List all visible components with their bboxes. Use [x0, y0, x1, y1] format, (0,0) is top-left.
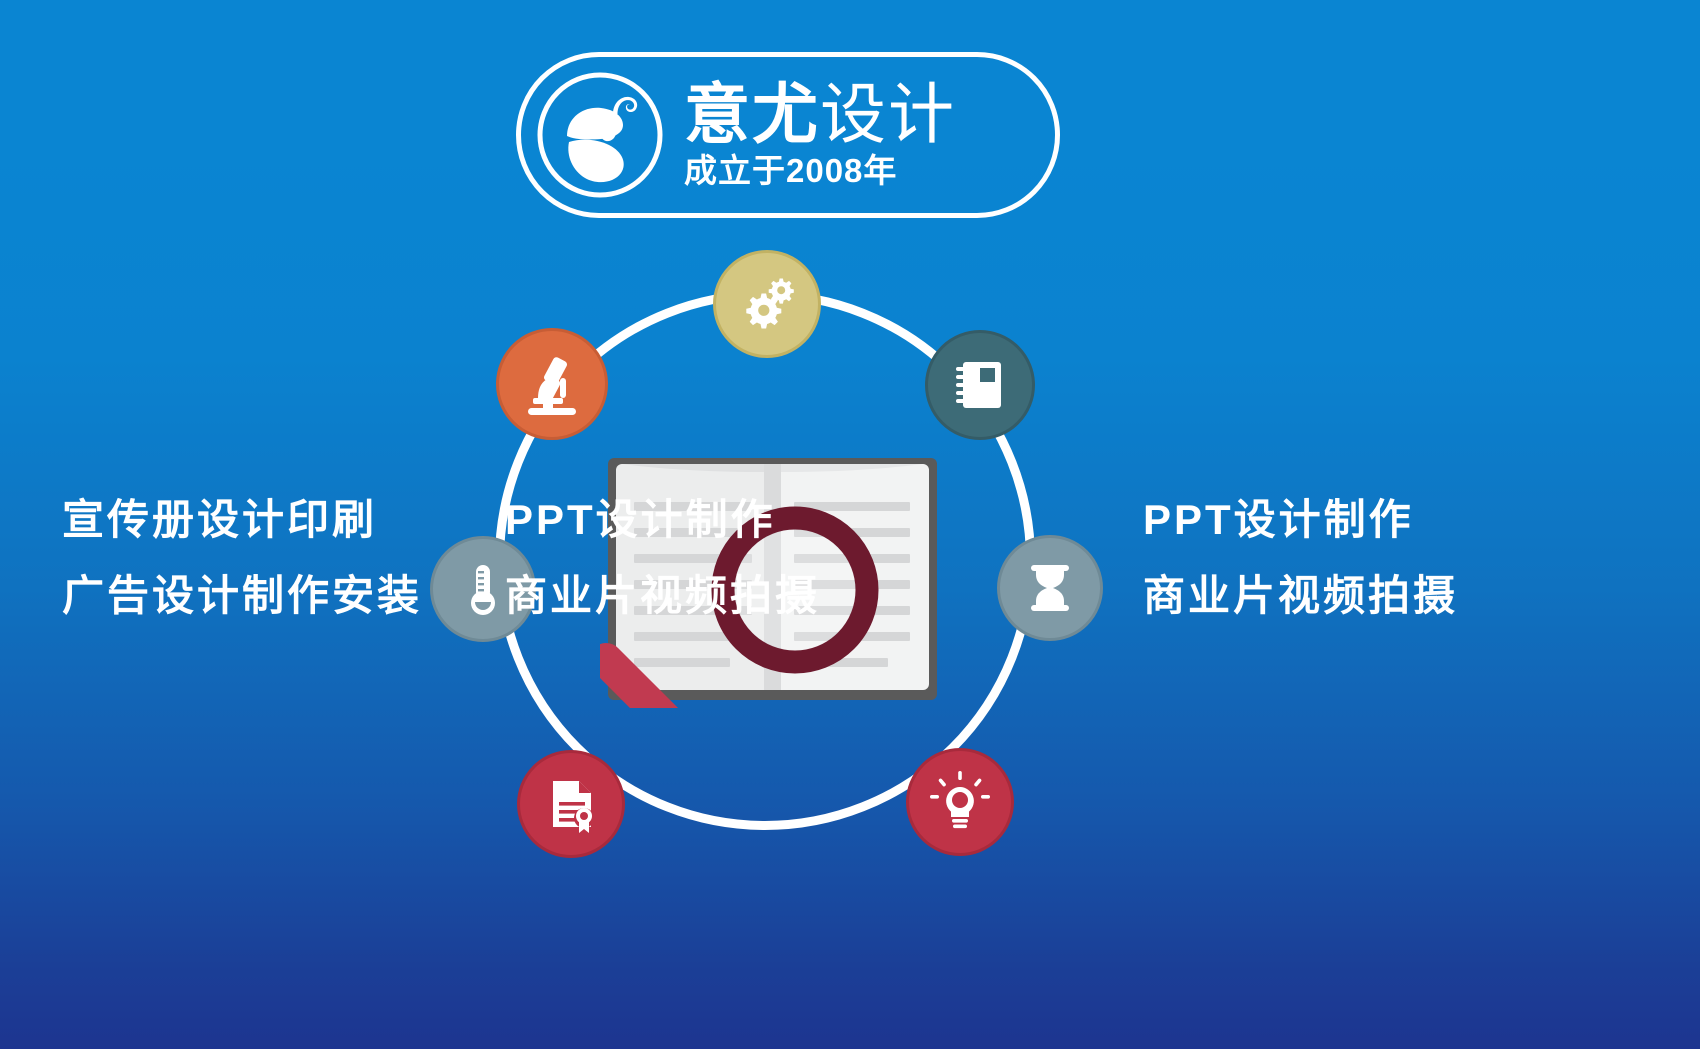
- service-text-center-line2: 商业片视频拍摄: [505, 558, 820, 634]
- logo-tagline: 成立于2008年: [684, 152, 1044, 190]
- service-text-center: PPT设计制作 商业片视频拍摄: [505, 482, 820, 634]
- node-notebook-icon[interactable]: [925, 330, 1035, 440]
- gears-icon: [732, 269, 802, 339]
- logo-name-thin: 设计: [820, 77, 956, 151]
- logo-name-line: 意尤设计: [684, 76, 1044, 152]
- service-text-left-line1: 宣传册设计印刷: [62, 482, 422, 558]
- certificate-icon: [539, 772, 603, 836]
- node-hourglass-icon[interactable]: [997, 535, 1103, 641]
- service-text-right: PPT设计制作 商业片视频拍摄: [1143, 482, 1458, 634]
- service-text-left-line2: 广告设计制作安装: [62, 558, 422, 634]
- bird-seed-logo-icon: [535, 70, 665, 200]
- notebook-icon: [947, 352, 1013, 418]
- node-lightbulb-icon[interactable]: [906, 748, 1014, 856]
- lightbulb-icon: [927, 769, 993, 835]
- brand-logo: 意尤设计 成立于2008年: [516, 52, 1064, 222]
- service-text-right-line2: 商业片视频拍摄: [1143, 558, 1458, 634]
- logo-name-bold: 意尤: [684, 77, 820, 151]
- slide-canvas: 意尤设计 成立于2008年: [0, 0, 1700, 1049]
- node-microscope-icon[interactable]: [496, 328, 608, 440]
- logo-wordmark: 意尤设计 成立于2008年: [684, 76, 1044, 196]
- node-certificate-icon[interactable]: [517, 750, 625, 858]
- microscope-icon: [516, 348, 588, 420]
- hourglass-icon: [1020, 558, 1080, 618]
- node-gears-icon[interactable]: [713, 250, 821, 358]
- service-text-left: 宣传册设计印刷 广告设计制作安装: [62, 482, 422, 634]
- service-text-right-line1: PPT设计制作: [1143, 482, 1458, 558]
- service-text-center-line1: PPT设计制作: [505, 482, 820, 558]
